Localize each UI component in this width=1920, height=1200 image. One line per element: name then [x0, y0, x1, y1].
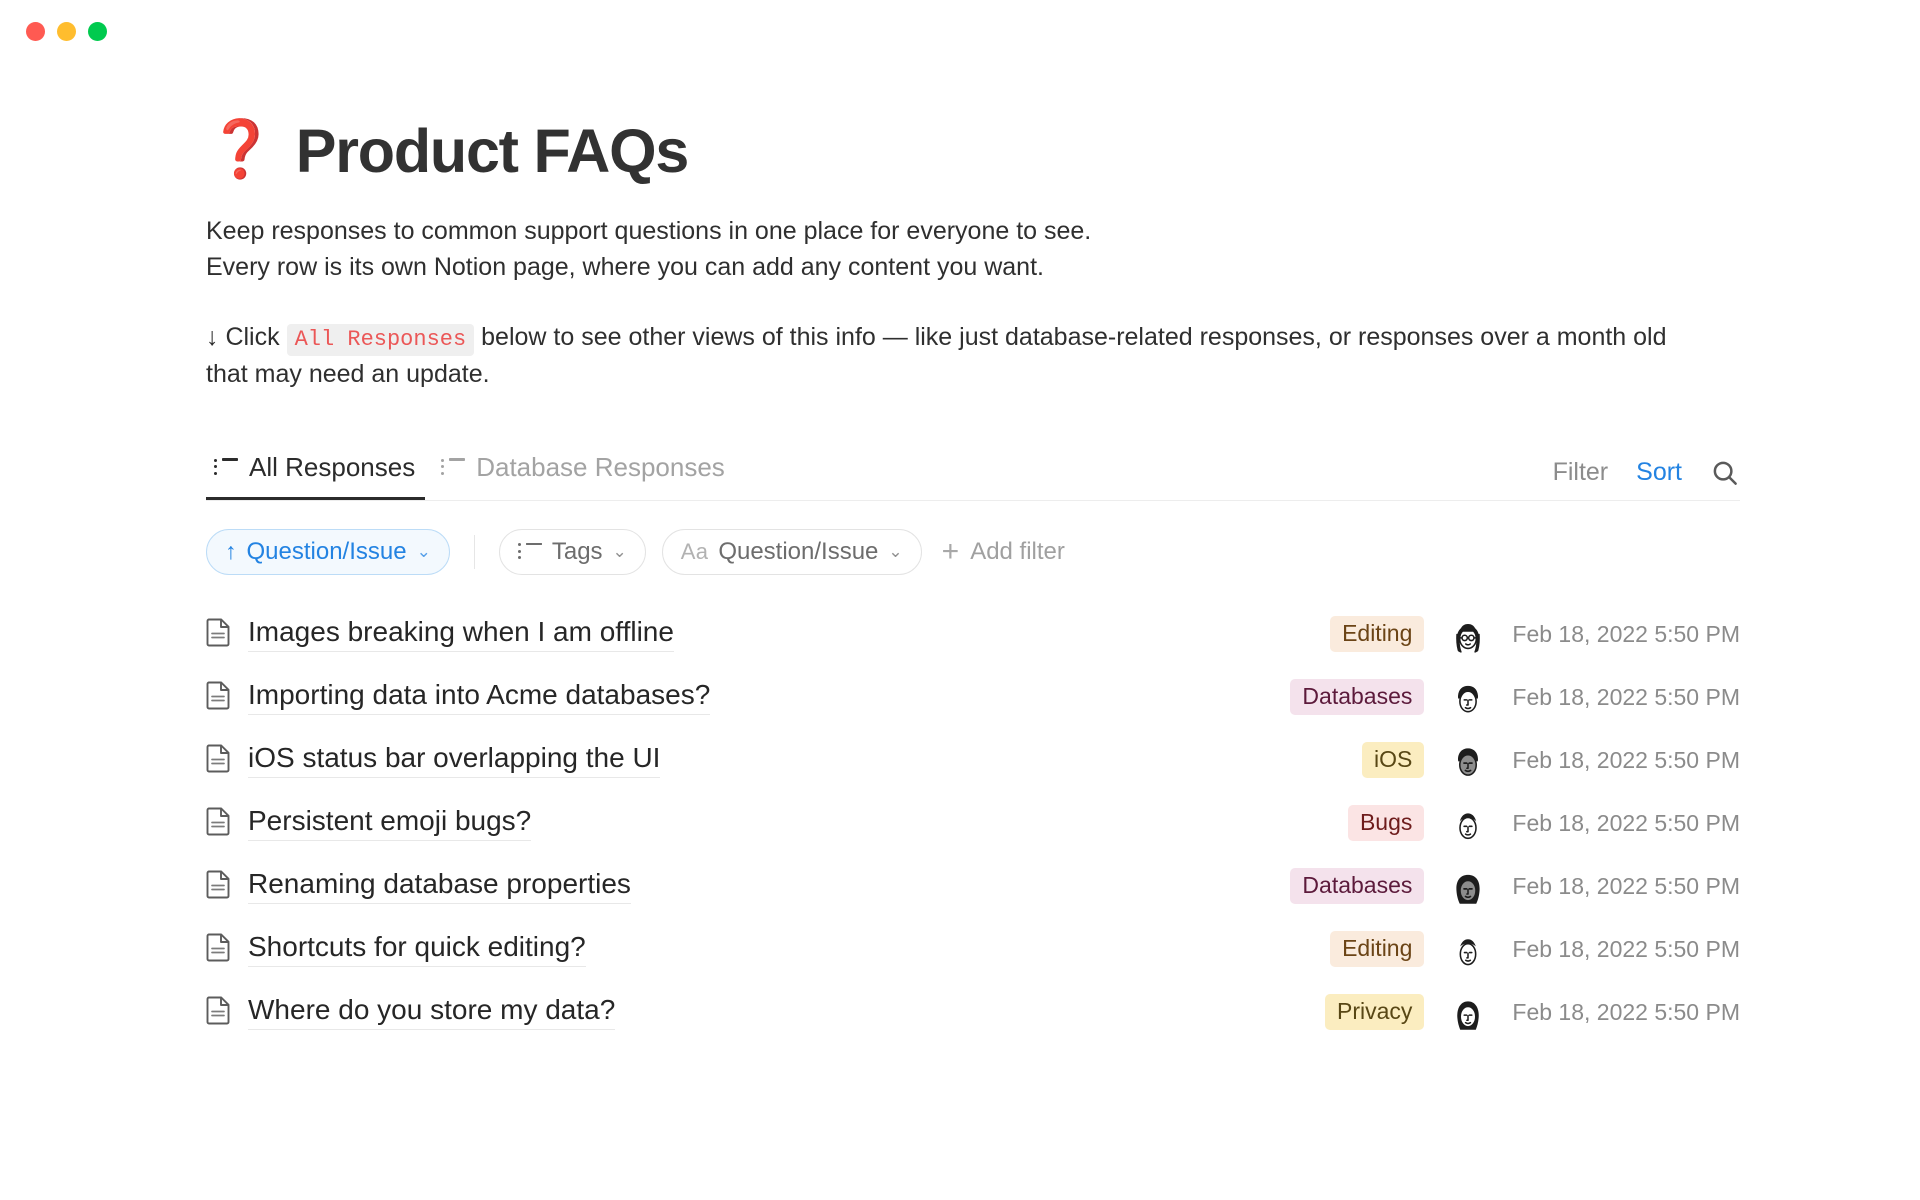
page-title[interactable]: Product FAQs	[296, 118, 688, 185]
row-tag-cell[interactable]: Privacy	[1204, 994, 1424, 1030]
page-title-row: ❓ Product FAQs	[206, 118, 1740, 185]
row-title[interactable]: Persistent emoji bugs?	[248, 805, 531, 841]
row-date[interactable]: Feb 18, 2022 5:50 PM	[1512, 747, 1740, 774]
row-tag-cell[interactable]: Databases	[1204, 868, 1424, 904]
status-badge[interactable]: Privacy	[1325, 994, 1424, 1030]
row-properties: Bugs Feb 18, 2022 5:50 PM	[1204, 803, 1740, 843]
row-title-cell[interactable]: Images breaking when I am offline	[206, 616, 1204, 652]
search-icon[interactable]	[1710, 458, 1740, 488]
view-tabs: All Responses Database Responses	[206, 446, 735, 500]
chip-divider	[474, 535, 475, 569]
description-callout: ↓ Click All Responses below to see other…	[206, 319, 1706, 392]
row-properties: Editing Feb 18, 2022 5:50 PM	[1204, 929, 1740, 969]
page-description: Keep responses to common support questio…	[206, 213, 1706, 392]
toolbar-actions: Filter Sort	[1553, 458, 1740, 500]
window-zoom-button[interactable]	[88, 22, 107, 41]
row-avatar-cell	[1424, 803, 1512, 843]
row-title-cell[interactable]: Importing data into Acme databases?	[206, 679, 1204, 715]
status-badge[interactable]: Databases	[1290, 868, 1424, 904]
table-row[interactable]: iOS status bar overlapping the UI iOS Fe…	[206, 729, 1740, 792]
page-document-icon	[206, 995, 232, 1030]
add-filter-label: Add filter	[970, 538, 1065, 566]
row-properties: Databases Feb 18, 2022 5:50 PM	[1204, 866, 1740, 906]
row-title-cell[interactable]: Renaming database properties	[206, 868, 1204, 904]
avatar	[1448, 992, 1488, 1032]
window-minimize-button[interactable]	[57, 22, 76, 41]
row-date[interactable]: Feb 18, 2022 5:50 PM	[1512, 684, 1740, 711]
list-view-icon	[441, 458, 465, 476]
row-title[interactable]: Shortcuts for quick editing?	[248, 931, 586, 967]
row-title[interactable]: Renaming database properties	[248, 868, 631, 904]
table-row[interactable]: Shortcuts for quick editing? Editing Feb…	[206, 918, 1740, 981]
sort-chip-label: Question/Issue	[247, 538, 407, 566]
filter-chip-question-issue-label: Question/Issue	[718, 538, 878, 566]
row-date[interactable]: Feb 18, 2022 5:50 PM	[1512, 873, 1740, 900]
sort-ascending-icon: ↑	[225, 538, 237, 565]
row-properties: iOS Feb 18, 2022 5:50 PM	[1204, 740, 1740, 780]
page-document-icon	[206, 617, 232, 652]
window-titlebar	[0, 0, 1920, 62]
avatar	[1448, 614, 1488, 654]
filter-chip-question-issue[interactable]: Aa Question/Issue ⌄	[662, 529, 922, 575]
row-avatar-cell	[1424, 929, 1512, 969]
row-tag-cell[interactable]: Bugs	[1204, 805, 1424, 841]
row-avatar-cell	[1424, 866, 1512, 906]
status-badge[interactable]: Databases	[1290, 679, 1424, 715]
filter-chip-row: ↑ Question/Issue ⌄ Tags ⌄ Aa Question/Is…	[206, 529, 1740, 575]
row-title[interactable]: Importing data into Acme databases?	[248, 679, 710, 715]
database-rows: Images breaking when I am offline Editin…	[206, 603, 1740, 1044]
row-avatar-cell	[1424, 992, 1512, 1032]
row-date[interactable]: Feb 18, 2022 5:50 PM	[1512, 810, 1740, 837]
row-avatar-cell	[1424, 614, 1512, 654]
multi-select-icon	[518, 543, 542, 561]
row-tag-cell[interactable]: Editing	[1204, 931, 1424, 967]
plus-icon: +	[942, 537, 960, 567]
row-title-cell[interactable]: Shortcuts for quick editing?	[206, 931, 1204, 967]
table-row[interactable]: Persistent emoji bugs? Bugs Feb 18, 2022…	[206, 792, 1740, 855]
avatar	[1448, 803, 1488, 843]
status-badge[interactable]: Bugs	[1348, 805, 1424, 841]
sort-chip-question-issue[interactable]: ↑ Question/Issue ⌄	[206, 529, 450, 575]
all-responses-code-badge[interactable]: All Responses	[287, 324, 475, 356]
callout-middle: below to see other views of this info — …	[481, 323, 1473, 351]
row-tag-cell[interactable]: Editing	[1204, 616, 1424, 652]
row-title[interactable]: Images breaking when I am offline	[248, 616, 674, 652]
row-title-cell[interactable]: Where do you store my data?	[206, 994, 1204, 1030]
filter-button[interactable]: Filter	[1553, 458, 1609, 487]
status-badge[interactable]: iOS	[1362, 742, 1424, 778]
filter-chip-tags-label: Tags	[552, 538, 603, 566]
description-line-1: Keep responses to common support questio…	[206, 213, 1706, 249]
description-line-2: Every row is its own Notion page, where …	[206, 249, 1706, 285]
page-document-icon	[206, 743, 232, 778]
row-properties: Editing Feb 18, 2022 5:50 PM	[1204, 614, 1740, 654]
page-document-icon	[206, 869, 232, 904]
add-filter-button[interactable]: + Add filter	[938, 537, 1065, 567]
avatar	[1448, 677, 1488, 717]
row-date[interactable]: Feb 18, 2022 5:50 PM	[1512, 936, 1740, 963]
page-document-icon	[206, 680, 232, 715]
row-tag-cell[interactable]: iOS	[1204, 742, 1424, 778]
database-toolbar: All Responses Database Responses Filter …	[206, 446, 1740, 501]
window-close-button[interactable]	[26, 22, 45, 41]
callout-prefix: ↓ Click	[206, 323, 280, 351]
description-spacer	[206, 285, 1706, 319]
chevron-down-icon: ⌄	[417, 542, 431, 562]
row-properties: Databases Feb 18, 2022 5:50 PM	[1204, 677, 1740, 717]
table-row[interactable]: Images breaking when I am offline Editin…	[206, 603, 1740, 666]
status-badge[interactable]: Editing	[1330, 616, 1424, 652]
tab-all-responses[interactable]: All Responses	[206, 446, 425, 500]
avatar	[1448, 929, 1488, 969]
chevron-down-icon: ⌄	[613, 542, 627, 562]
row-date[interactable]: Feb 18, 2022 5:50 PM	[1512, 621, 1740, 648]
table-row[interactable]: Importing data into Acme databases? Data…	[206, 666, 1740, 729]
chevron-down-icon: ⌄	[888, 542, 902, 562]
tab-database-responses[interactable]: Database Responses	[433, 446, 735, 500]
row-title-cell[interactable]: iOS status bar overlapping the UI	[206, 742, 1204, 778]
sort-button[interactable]: Sort	[1636, 458, 1682, 487]
row-properties: Privacy Feb 18, 2022 5:50 PM	[1204, 992, 1740, 1032]
row-tag-cell[interactable]: Databases	[1204, 679, 1424, 715]
page-document-icon	[206, 932, 232, 967]
row-avatar-cell	[1424, 677, 1512, 717]
row-title-cell[interactable]: Persistent emoji bugs?	[206, 805, 1204, 841]
row-date[interactable]: Feb 18, 2022 5:50 PM	[1512, 999, 1740, 1026]
avatar	[1448, 866, 1488, 906]
avatar	[1448, 740, 1488, 780]
table-row[interactable]: Where do you store my data? Privacy Feb …	[206, 981, 1740, 1044]
row-avatar-cell	[1424, 740, 1512, 780]
row-title[interactable]: iOS status bar overlapping the UI	[248, 742, 660, 778]
text-property-icon: Aa	[681, 539, 709, 565]
list-view-icon	[214, 458, 238, 476]
table-row[interactable]: Renaming database properties Databases F…	[206, 855, 1740, 918]
row-title[interactable]: Where do you store my data?	[248, 994, 615, 1030]
question-mark-emoji-icon: ❓	[206, 122, 276, 178]
tab-all-responses-label: All Responses	[249, 452, 415, 483]
filter-chip-tags[interactable]: Tags ⌄	[499, 529, 646, 575]
tab-database-responses-label: Database Responses	[476, 452, 725, 483]
page-content: ❓ Product FAQs Keep responses to common …	[0, 118, 1920, 1044]
status-badge[interactable]: Editing	[1330, 931, 1424, 967]
page-document-icon	[206, 806, 232, 841]
